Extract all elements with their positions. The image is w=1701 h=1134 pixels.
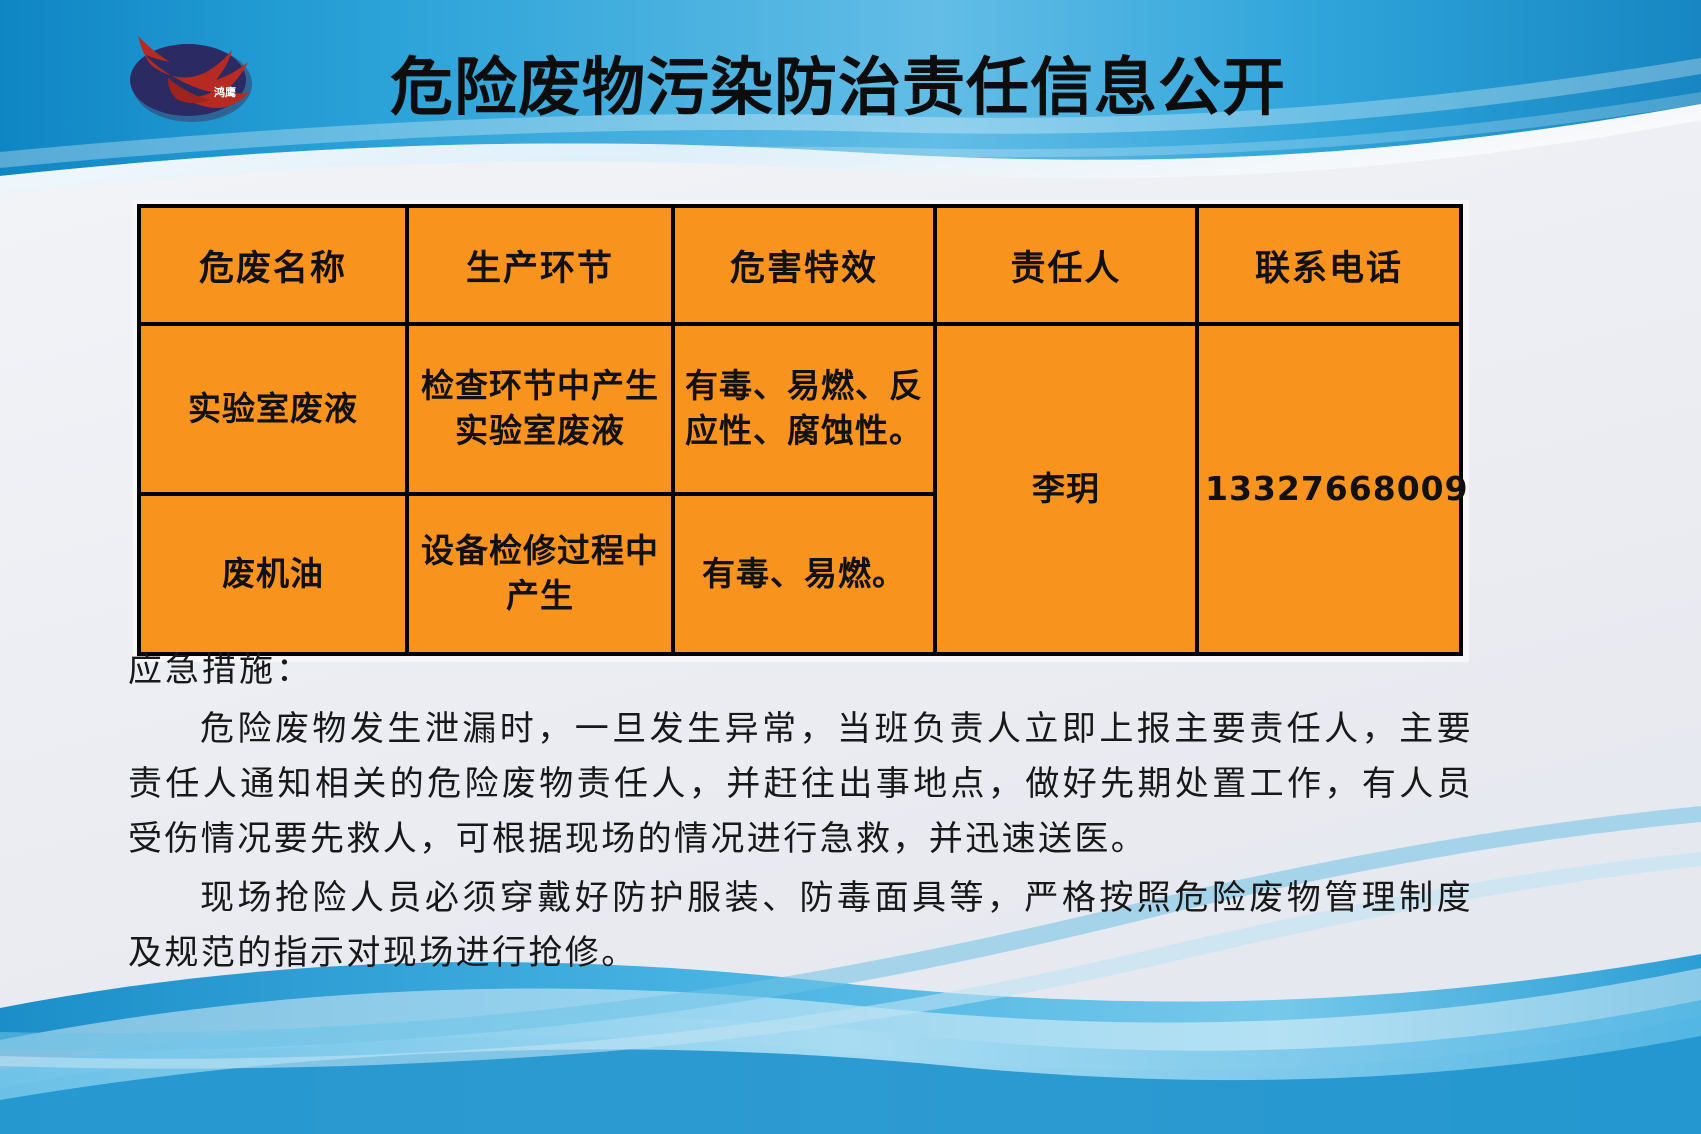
column-header-hazard-property: 危害特效: [673, 206, 935, 324]
cell-production-stage-1: 检查环节中产生实验室废液: [407, 324, 673, 494]
column-header-contact-phone: 联系电话: [1197, 206, 1461, 324]
cell-hazard-property-2: 有毒、易燃。: [673, 494, 935, 654]
emergency-measures-heading: 应急措施：: [128, 645, 1473, 696]
emergency-measures-paragraph-2: 现场抢险人员必须穿戴好防护服装、防毒面具等，严格按照危险废物管理制度及规范的指示…: [128, 871, 1473, 981]
table-row: 实验室废液 检查环节中产生实验室废液 有毒、易燃、反应性、腐蚀性。 李玥 133…: [139, 324, 1461, 494]
emergency-measures-section: 应急措施： 危险废物发生泄漏时，一旦发生异常，当班负责人立即上报主要责任人，主要…: [128, 645, 1473, 981]
hazardous-waste-table-container: 危废名称 生产环节 危害特效 责任人 联系电话 实验室废液 检查环节中产生实验室…: [133, 200, 1469, 662]
page-title: 危险废物污染防治责任信息公开: [390, 55, 1450, 121]
slide-header: 鸿鹰 危险废物污染防治责任信息公开: [0, 0, 1701, 175]
cell-hazard-property-1: 有毒、易燃、反应性、腐蚀性。: [673, 324, 935, 494]
column-header-production-stage: 生产环节: [407, 206, 673, 324]
cell-contact-phone: 13327668009: [1197, 324, 1461, 654]
cell-waste-name-1: 实验室废液: [139, 324, 407, 494]
column-header-waste-name: 危废名称: [139, 206, 407, 324]
hazardous-waste-table: 危废名称 生产环节 危害特效 责任人 联系电话 实验室废液 检查环节中产生实验室…: [137, 204, 1463, 656]
slide-root: 鸿鹰 危险废物污染防治责任信息公开 危废名称 生产环节 危害特效 责任人 联系电…: [0, 0, 1701, 1134]
cell-production-stage-2: 设备检修过程中产生: [407, 494, 673, 654]
emergency-measures-paragraph-1: 危险废物发生泄漏时，一旦发生异常，当班负责人立即上报主要责任人，主要责任人通知相…: [128, 702, 1473, 867]
company-eagle-logo-icon: 鸿鹰: [108, 18, 283, 128]
table-header-row: 危废名称 生产环节 危害特效 责任人 联系电话: [139, 206, 1461, 324]
column-header-responsible-person: 责任人: [935, 206, 1197, 324]
cell-waste-name-2: 废机油: [139, 494, 407, 654]
cell-responsible-person: 李玥: [935, 324, 1197, 654]
svg-text:鸿鹰: 鸿鹰: [214, 85, 236, 99]
